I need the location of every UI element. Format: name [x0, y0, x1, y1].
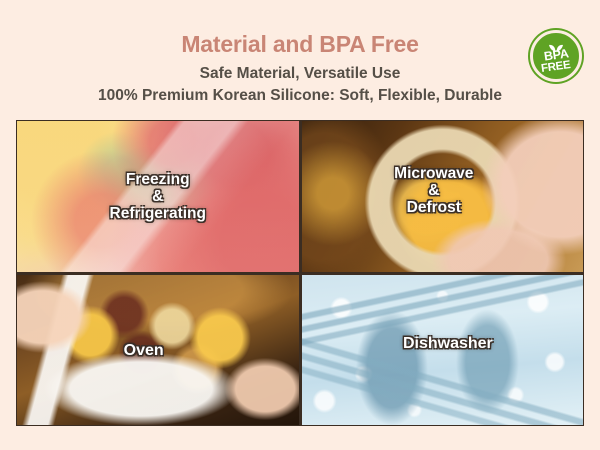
caption-line-1: Microwave: [347, 166, 522, 183]
bpa-badge-line-2: FREE: [541, 60, 572, 75]
panel-dishwasher: Dishwasher: [302, 275, 584, 426]
panel-freezing-refrigerating: Freezing & Refrigerating: [17, 121, 299, 272]
header: Material and BPA Free Safe Material, Ver…: [0, 0, 600, 118]
page-title: Material and BPA Free: [0, 32, 600, 57]
panel-oven: Oven: [17, 275, 299, 426]
panel-caption-oven: Oven: [101, 342, 185, 359]
caption-line-3: Defrost: [347, 200, 522, 217]
caption-line-1: Dishwasher: [369, 335, 527, 352]
panel-caption-freezing: Freezing & Refrigerating: [79, 172, 237, 222]
panel-caption-microwave: Microwave & Defrost: [347, 166, 522, 216]
panel-microwave-defrost: Microwave & Defrost: [302, 121, 584, 272]
subtitle-line-2: 100% Premium Korean Silicone: Soft, Flex…: [0, 87, 600, 105]
bpa-free-badge: BPA FREE: [530, 30, 582, 82]
caption-line-2: &: [347, 183, 522, 200]
caption-line-2: &: [79, 189, 237, 206]
panel-caption-dishwasher: Dishwasher: [369, 335, 527, 352]
feature-photo-grid: Freezing & Refrigerating Microwave & Def…: [16, 120, 584, 426]
subtitle-line-1: Safe Material, Versatile Use: [0, 65, 600, 83]
caption-line-3: Refrigerating: [79, 206, 237, 223]
caption-line-1: Oven: [101, 342, 185, 359]
caption-line-1: Freezing: [79, 172, 237, 189]
